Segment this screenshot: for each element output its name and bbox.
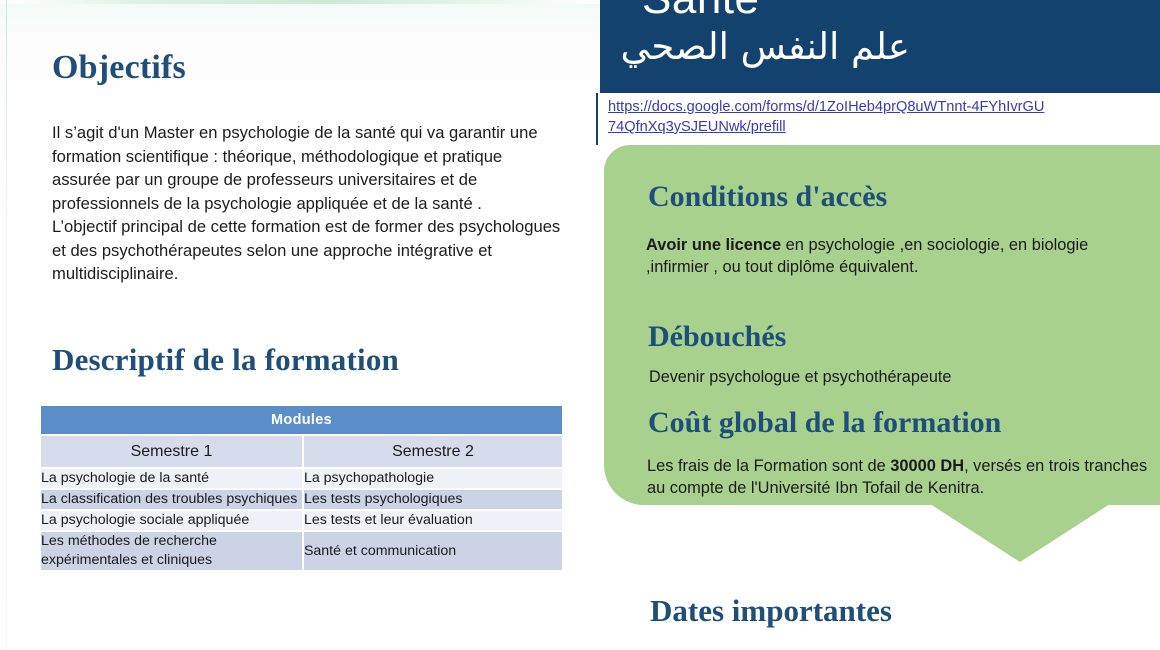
table-cell: La psychopathologie [304,467,562,488]
title-banner: Santé علم النفس الصحي [600,0,1160,93]
descriptif-heading: Descriptif de la formation [52,344,399,377]
table-row: La psychologie de la santé La psychopath… [41,467,562,488]
table-row-truncated [41,570,562,572]
table-cell: La psychologie de la santé [41,467,304,488]
cout-global-heading: Coût global de la formation [648,406,1001,440]
cout-pre: Les frais de la Formation sont de [647,457,890,475]
dates-importantes-heading: Dates importantes [650,593,892,629]
table-cell [304,570,562,572]
objectifs-heading: Objectifs [52,50,186,86]
table-cell: Les tests psychologiques [304,488,562,509]
conditions-acces-paragraph: Avoir une licence en psychologie ,en soc… [646,234,1146,278]
google-form-link[interactable]: https://docs.google.com/forms/d/1ZoIHeb4… [608,97,1048,137]
table-cell: La classification des troubles psychique… [41,488,304,509]
table-row: Les méthodes de recherche expérimentales… [41,530,562,570]
debouches-heading: Débouchés [648,320,786,354]
table-title-row: Modules [41,406,562,434]
column-header-semestre-1: Semestre 1 [41,434,304,467]
table-cell: Les méthodes de recherche expérimentales… [41,530,304,570]
table-row: La psychologie sociale appliquée Les tes… [41,509,562,530]
table-cell: La psychologie sociale appliquée [41,509,304,530]
poster-slide: Objectifs Il s’agit d'un Master en psych… [0,0,1160,650]
table-header-row: Semestre 1 Semestre 2 [41,434,562,467]
left-column: Objectifs Il s’agit d'un Master en psych… [0,0,600,650]
green-callout-tail [930,504,1110,562]
table-cell: Santé et communication [304,530,562,570]
cout-global-paragraph: Les frais de la Formation sont de 30000 … [647,455,1152,499]
modules-table: Modules Semestre 1 Semestre 2 La psychol… [41,406,562,572]
conditions-acces-heading: Conditions d'accès [648,180,887,214]
banner-title-arabic: علم النفس الصحي [600,26,910,69]
debouches-paragraph: Devenir psychologue et psychothérapeute [649,366,1149,388]
objectifs-paragraph: Il s’agit d'un Master en psychologie de … [52,121,562,286]
form-url-box: https://docs.google.com/forms/d/1ZoIHeb4… [596,93,1160,145]
table-row: La classification des troubles psychique… [41,488,562,509]
cout-amount: 30000 DH [890,457,964,475]
banner-title-french: Santé [642,0,759,24]
table-cell [41,570,304,572]
table-cell: Les tests et leur évaluation [304,509,562,530]
table-title-cell: Modules [41,406,562,434]
conditions-bold-lead: Avoir une licence [646,236,781,254]
column-header-semestre-2: Semestre 2 [304,434,562,467]
